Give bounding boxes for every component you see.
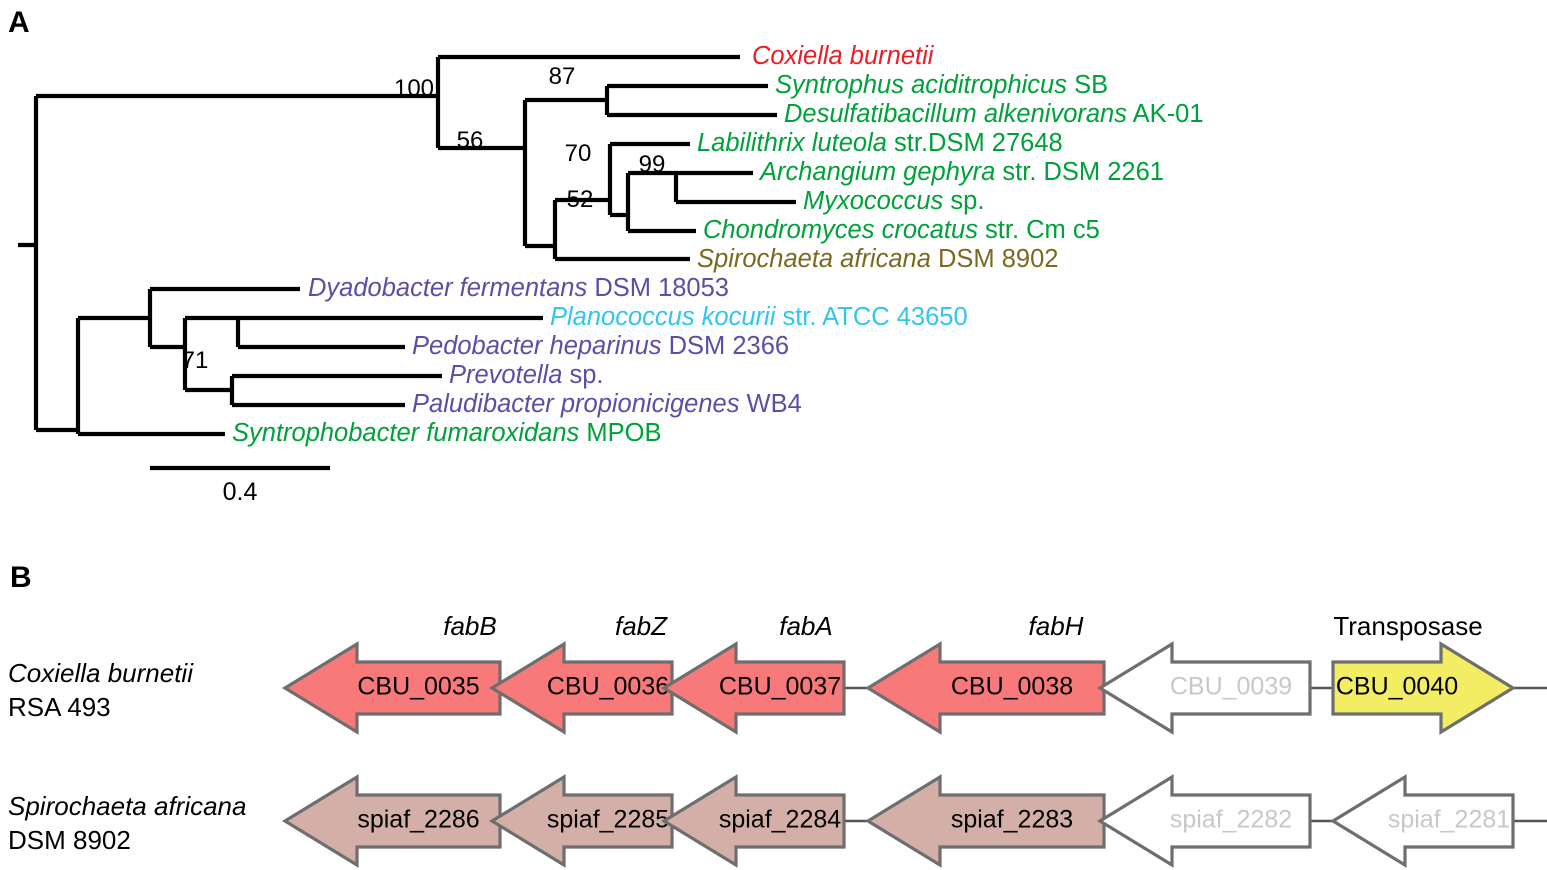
- bootstrap-value-87: 87: [549, 63, 576, 90]
- taxon-label: Pedobacter heparinus DSM 2366: [412, 332, 789, 360]
- taxon-label: Labilithrix luteola str.DSM 27648: [697, 129, 1063, 157]
- gene-name-label: Transposase: [1333, 611, 1482, 641]
- taxon-label: Desulfatibacillum alkenivorans AK-01: [784, 100, 1204, 128]
- gene-arrow-label: CBU_0040: [1336, 673, 1458, 701]
- taxon-label: Myxococcus sp.: [803, 187, 984, 215]
- organism-species: Spirochaeta africana: [8, 791, 246, 821]
- taxon-label: Spirochaeta africana DSM 8902: [697, 245, 1058, 273]
- tree-branches: [18, 57, 796, 434]
- synteny-row: Spirochaeta africanaDSM 8902spiaf_2286sp…: [8, 777, 1547, 865]
- gene-name-label: fabZ: [615, 611, 668, 641]
- scale-bar: 0.4: [150, 468, 330, 506]
- gene-name-label: fabA: [779, 611, 833, 641]
- taxon-label: Archangium gephyra str. DSM 2261: [758, 158, 1164, 186]
- scale-bar-label: 0.4: [223, 478, 258, 506]
- gene-arrow-label: CBU_0039: [1170, 673, 1292, 701]
- gene-arrow-label: spiaf_2281: [1388, 806, 1510, 834]
- gene-arrow-label: spiaf_2284: [719, 806, 841, 834]
- bootstrap-value-56: 56: [457, 127, 484, 154]
- bootstrap-value-99: 99: [639, 151, 666, 178]
- bootstrap-value-52: 52: [567, 186, 594, 213]
- gene-name-label: fabB: [443, 611, 497, 641]
- taxon-labels: Coxiella burnetiiSyntrophus aciditrophic…: [232, 42, 1204, 447]
- organism-strain: RSA 493: [8, 692, 111, 722]
- phylogenetic-tree: 100875670995271 Coxiella burnetiiSyntrop…: [0, 0, 1547, 555]
- gene-arrow-label: spiaf_2283: [951, 806, 1073, 834]
- synteny-row: Coxiella burnetiiRSA 493CBU_0035CBU_0036…: [8, 644, 1547, 732]
- gene-arrow-label: spiaf_2285: [547, 806, 669, 834]
- gene-arrow-label: CBU_0036: [547, 673, 669, 701]
- gene-name-labels: fabBfabZfabAfabHTransposase: [443, 611, 1482, 641]
- bootstrap-value-70: 70: [565, 140, 592, 167]
- gene-arrow-label: CBU_0038: [951, 673, 1073, 701]
- taxon-label: Syntrophus aciditrophicus SB: [775, 71, 1108, 99]
- gene-arrow-label: CBU_0035: [357, 673, 479, 701]
- organism-strain: DSM 8902: [8, 825, 131, 855]
- taxon-label: Prevotella sp.: [449, 361, 604, 389]
- organism-species: Coxiella burnetii: [8, 658, 194, 688]
- taxon-label: Planococcus kocurii str. ATCC 43650: [550, 303, 968, 331]
- taxon-label: Chondromyces crocatus str. Cm c5: [703, 216, 1100, 244]
- bootstrap-value-100: 100: [394, 75, 434, 102]
- taxon-label: Dyadobacter fermentans DSM 18053: [308, 274, 729, 302]
- gene-arrow-label: CBU_0037: [719, 673, 841, 701]
- bootstrap-value-71: 71: [182, 347, 209, 374]
- synteny-diagram: fabBfabZfabAfabHTransposase Coxiella bur…: [0, 555, 1547, 870]
- taxon-label: Coxiella burnetii: [752, 42, 935, 70]
- synteny-rows: Coxiella burnetiiRSA 493CBU_0035CBU_0036…: [8, 644, 1547, 865]
- gene-name-label: fabH: [1029, 611, 1084, 641]
- gene-arrow-label: spiaf_2282: [1170, 806, 1292, 834]
- taxon-label: Paludibacter propionicigenes WB4: [412, 390, 802, 418]
- gene-arrow-label: spiaf_2286: [357, 806, 479, 834]
- taxon-label: Syntrophobacter fumaroxidans MPOB: [232, 419, 661, 447]
